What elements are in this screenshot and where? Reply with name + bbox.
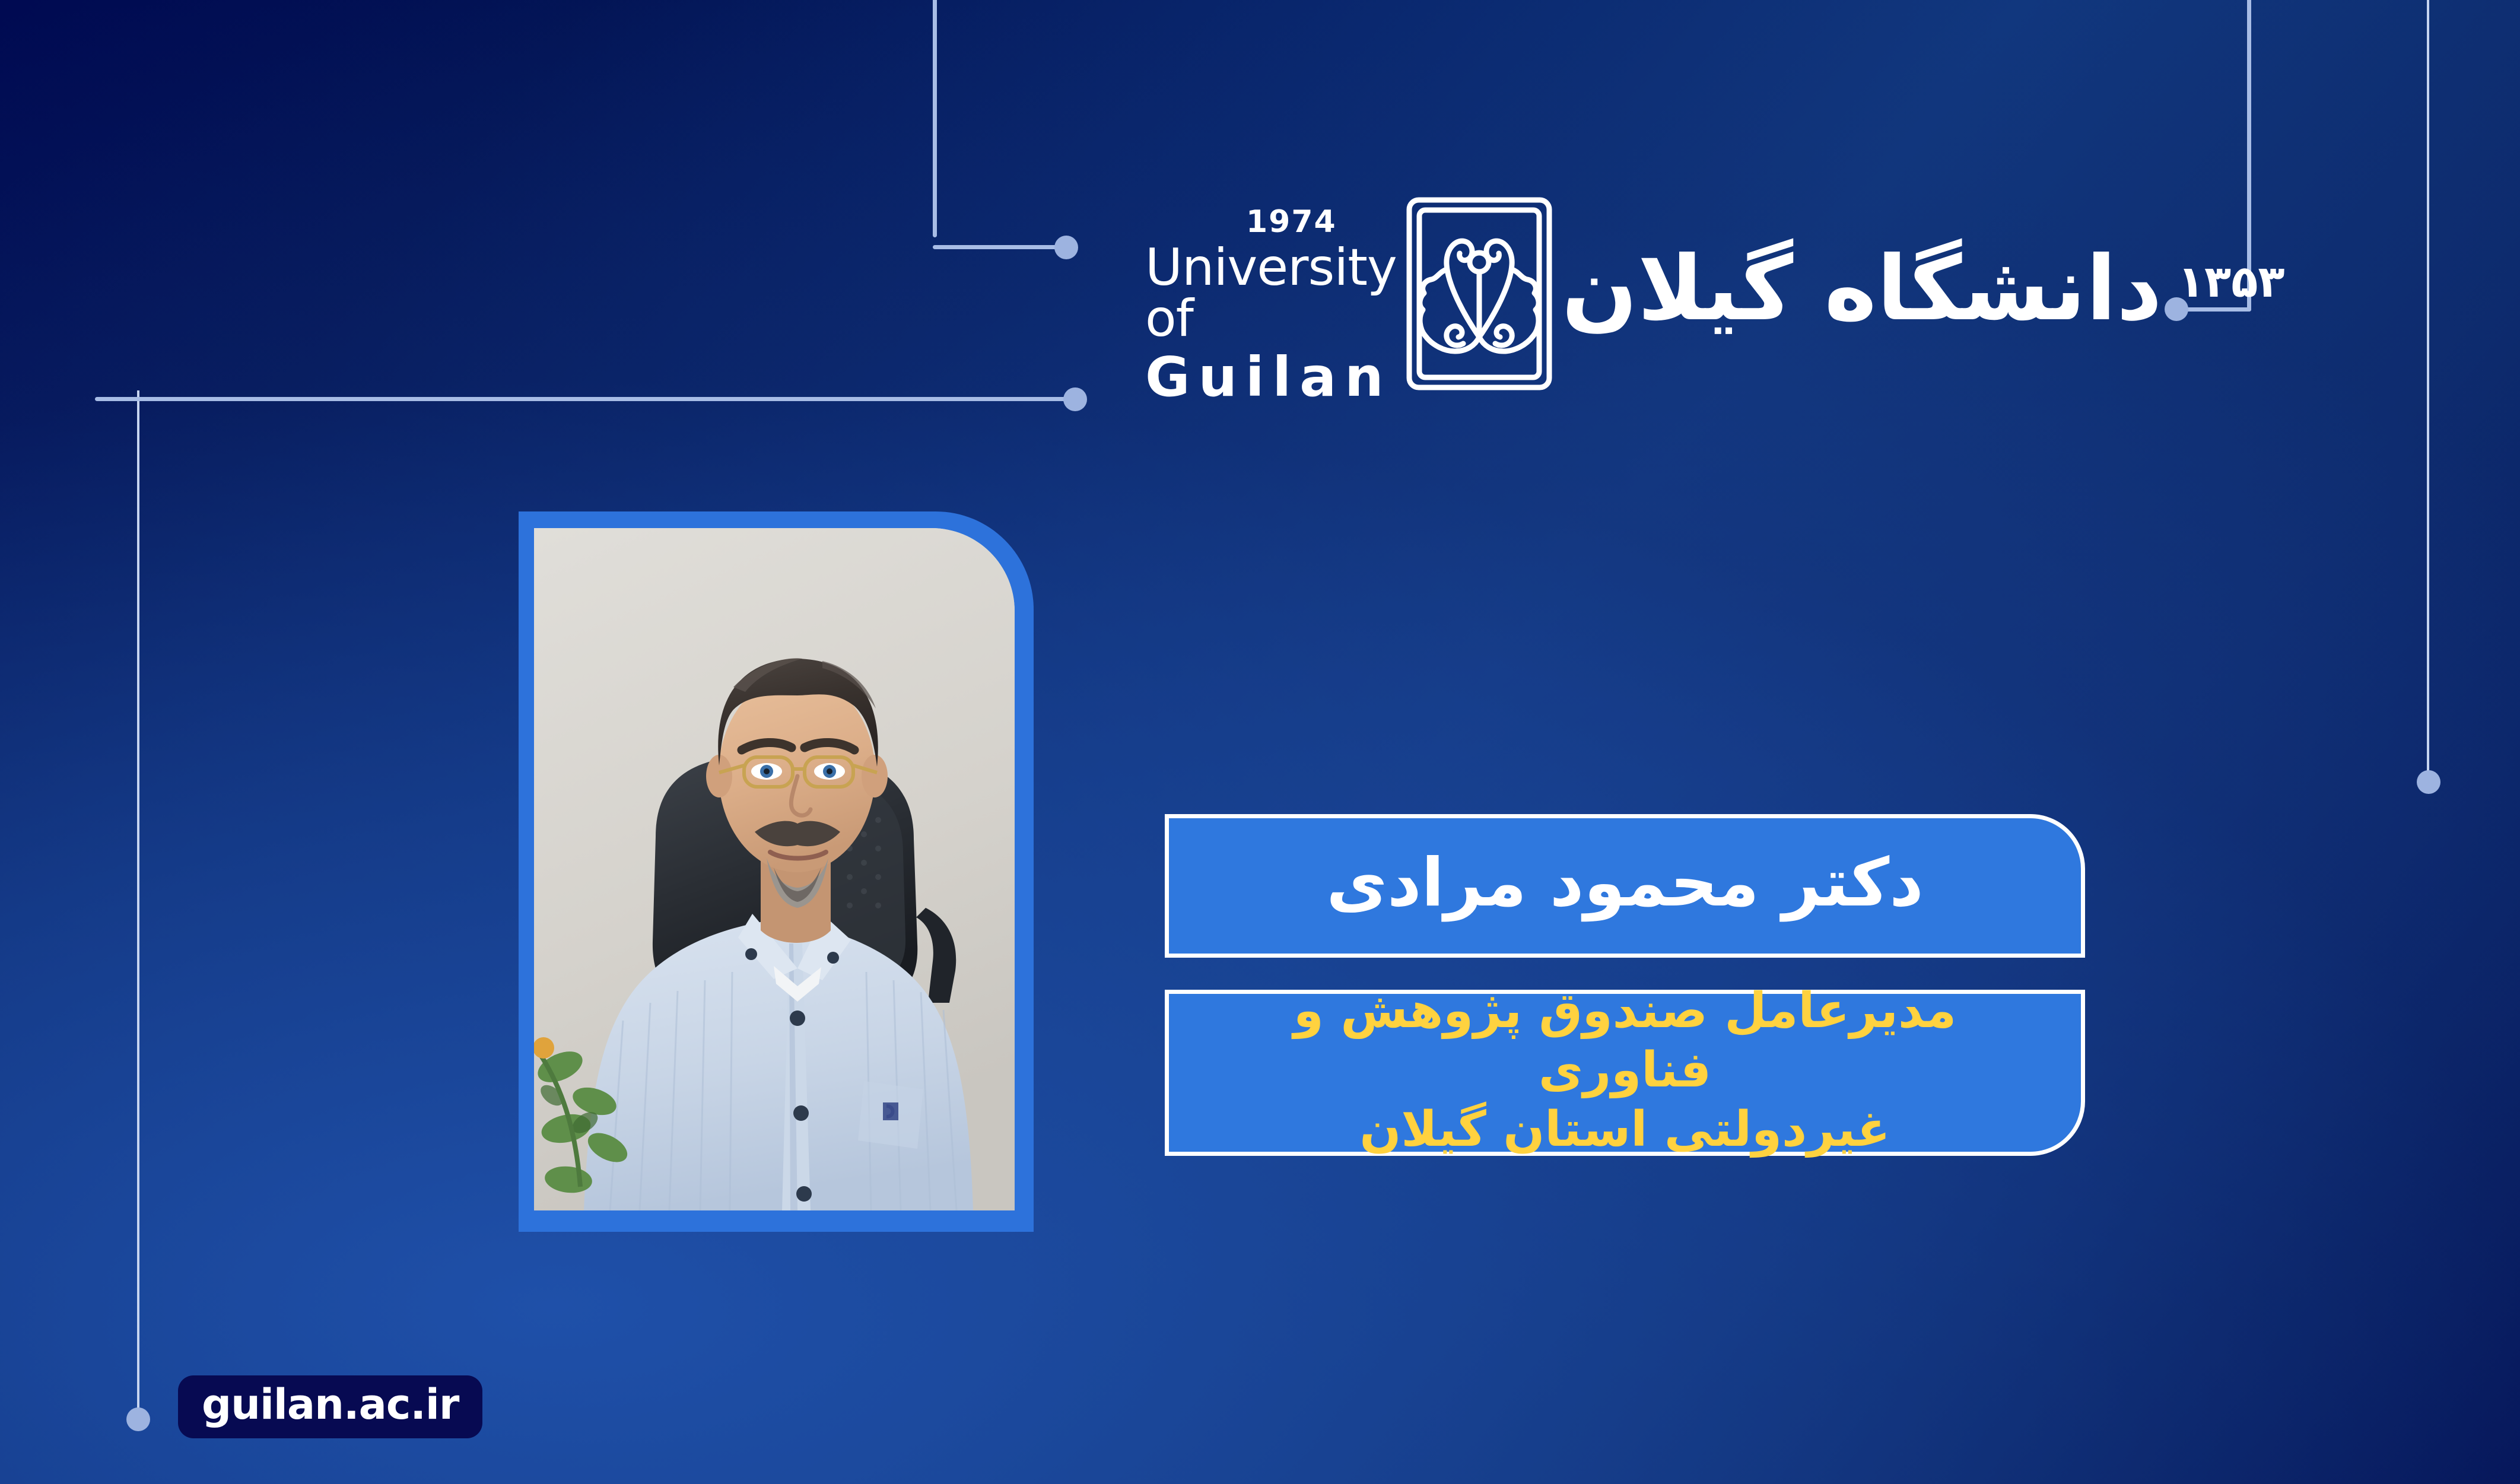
- logo-founding-year-persian: ۱۳۵۳: [2178, 256, 2285, 307]
- speaker-portrait-frame: [519, 511, 1034, 1232]
- decor-line-right-vertical: [2427, 0, 2429, 777]
- logo-persian-name: دانشگاه گیلان: [1562, 243, 2162, 336]
- decor-dot-left-vertical-end: [126, 1407, 150, 1431]
- logo-english-line1: University of: [1145, 242, 1397, 344]
- speaker-role-plate: مدیرعامل صندوق پژوهش و فناوری غیردولتی ا…: [1165, 990, 2085, 1156]
- logo-persian-block: ۱۳۵۳ دانشگاه گیلان: [1562, 243, 2285, 345]
- speaker-role-line1: مدیرعامل صندوق پژوهش و فناوری: [1210, 981, 2039, 1100]
- poster-canvas: 1974 University of Guilan: [0, 0, 2520, 1484]
- decor-line-topleft-horizontal: [933, 245, 1060, 249]
- decor-dot-right-vertical-end: [2417, 770, 2440, 794]
- website-url: guilan.ac.ir: [202, 1384, 459, 1430]
- decor-line-topleft-vertical: [933, 0, 937, 237]
- speaker-name-plate: دکتر محمود مرادی: [1165, 814, 2085, 958]
- decor-line-mid-horizontal: [95, 397, 1073, 401]
- decor-line-left-vertical-long: [137, 390, 139, 1418]
- speaker-name: دکتر محمود مرادی: [1326, 850, 1923, 922]
- website-badge[interactable]: guilan.ac.ir: [178, 1375, 482, 1438]
- logo-founding-year-latin: 1974: [1246, 206, 1397, 237]
- decor-dot-mid-horizontal-end: [1063, 387, 1087, 411]
- speaker-portrait-photo: [534, 528, 1015, 1210]
- speaker-role: مدیرعامل صندوق پژوهش و فناوری غیردولتی ا…: [1169, 981, 2081, 1164]
- decor-dot-topleft: [1054, 236, 1078, 259]
- logo-english-line2: Guilan: [1145, 350, 1397, 405]
- guilan-university-emblem-icon: [1405, 196, 1553, 392]
- university-logo: 1974 University of Guilan: [1145, 178, 2100, 409]
- speaker-role-line2: غیردولتی استان گیلان: [1210, 1100, 2039, 1159]
- logo-english-block: 1974 University of Guilan: [1145, 183, 1397, 405]
